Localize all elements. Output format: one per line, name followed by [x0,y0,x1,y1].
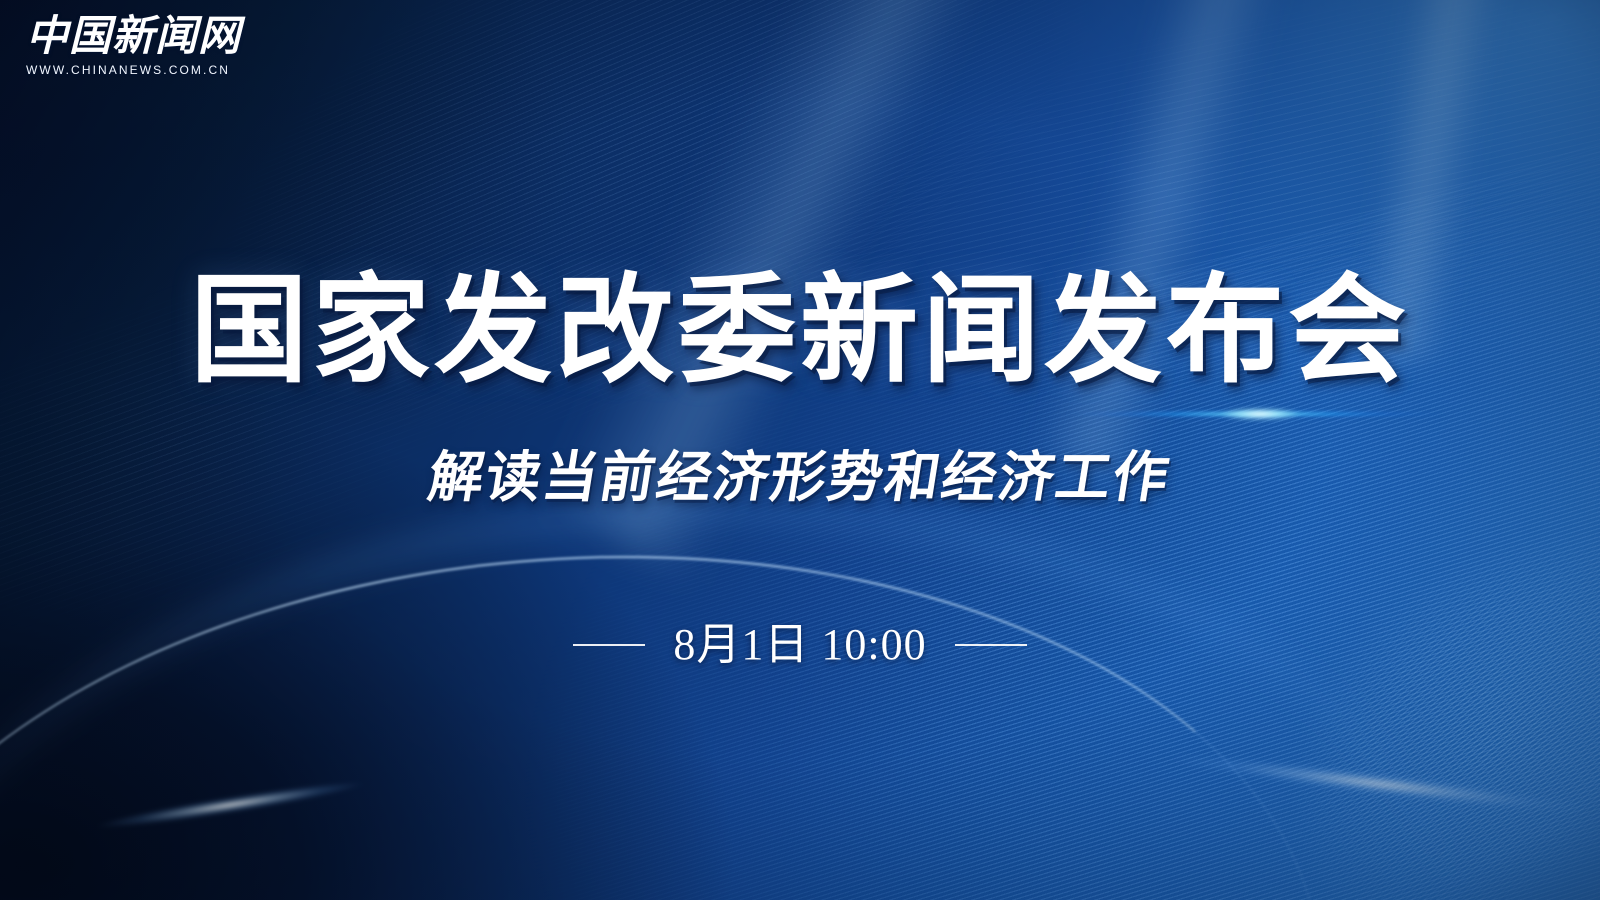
poster-title: 国家发改委新闻发布会 [190,268,1410,394]
chinanews-logo-icon: 中国新闻网 [26,14,246,60]
news-conference-poster: 中国新闻网 WWW.CHINANEWS.COM.CN 国家发改委新闻发布会 解读… [0,0,1600,900]
divider-rule-right [955,644,1027,646]
datetime-row: 8月1日 10:00 [0,617,1600,673]
title-flare-glow [1020,392,1490,436]
chinanews-logo[interactable]: 中国新闻网 WWW.CHINANEWS.COM.CN [26,14,246,77]
poster-subtitle: 解读当前经济形势和经济工作 [424,444,1175,510]
headline-container: 国家发改委新闻发布会 [0,268,1600,394]
chinanews-url: WWW.CHINANEWS.COM.CN [26,63,246,77]
bottom-arc-highlight-left [58,756,401,855]
subtitle-container: 解读当前经济形势和经济工作 [0,444,1600,510]
divider-rule-left [573,644,645,646]
bottom-arc-line [0,507,1352,900]
poster-datetime: 8月1日 10:00 [673,617,926,673]
bottom-arc-highlight-right [1118,723,1600,846]
light-streak-mid [1033,0,1337,481]
bottom-arc-halo [0,451,1493,900]
title-flare-core [1212,406,1308,422]
